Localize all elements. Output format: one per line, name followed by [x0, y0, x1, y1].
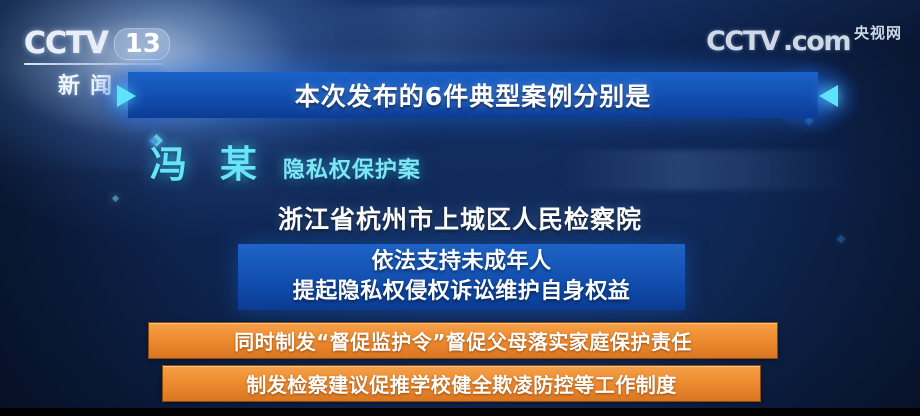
play-triangle-right-icon	[117, 85, 136, 107]
cctv13-logo-number: 13	[114, 28, 170, 60]
case-name-line: 冯 某 隐私权保护案	[150, 134, 421, 188]
headline-banner: 本次发布的6件典型案例分别是	[128, 72, 818, 118]
cctv13-logo-text: CCTV	[24, 26, 108, 61]
measure-bar-1: 同时制发“督促监护令”督促父母落实家庭保护责任	[148, 322, 778, 359]
measure-bar-2-text: 制发检察建议促推学校健全欺凌防控等工作制度	[246, 369, 677, 398]
summary-line-2: 提起隐私权侵权诉讼维护自身权益	[293, 277, 631, 307]
cctv-com-logo-text: CCTV	[706, 26, 779, 57]
case-type-label: 隐私权保护案	[283, 152, 421, 184]
measure-bar-1-text: 同时制发“督促监护令”督促父母落实家庭保护责任	[234, 326, 692, 355]
cctv-com-logo: CCTV .com 央视网	[706, 22, 902, 57]
case-person-name: 冯 某	[150, 134, 267, 188]
cctv-com-logo-suffix: .com	[783, 26, 850, 57]
cctv-com-logo-chinese: 央视网	[854, 22, 902, 43]
agency-name: 浙江省杭州市上城区人民检察院	[0, 200, 920, 236]
bottom-letterbox-bar	[0, 408, 920, 416]
cctv13-logo-row: CCTV 13	[24, 26, 169, 61]
play-triangle-left-icon	[819, 85, 838, 107]
broadcast-graphic-screen: CCTV 13 新闻 CCTV .com 央视网 本次发布的6件典型案例分别是 …	[0, 0, 920, 416]
headline-text: 本次发布的6件典型案例分别是	[128, 72, 818, 118]
measure-bar-2: 制发检察建议促推学校健全欺凌防控等工作制度	[162, 365, 761, 402]
summary-line-1: 依法支持未成年人	[371, 247, 551, 277]
summary-panel: 依法支持未成年人 提起隐私权侵权诉讼维护自身权益	[238, 244, 685, 310]
